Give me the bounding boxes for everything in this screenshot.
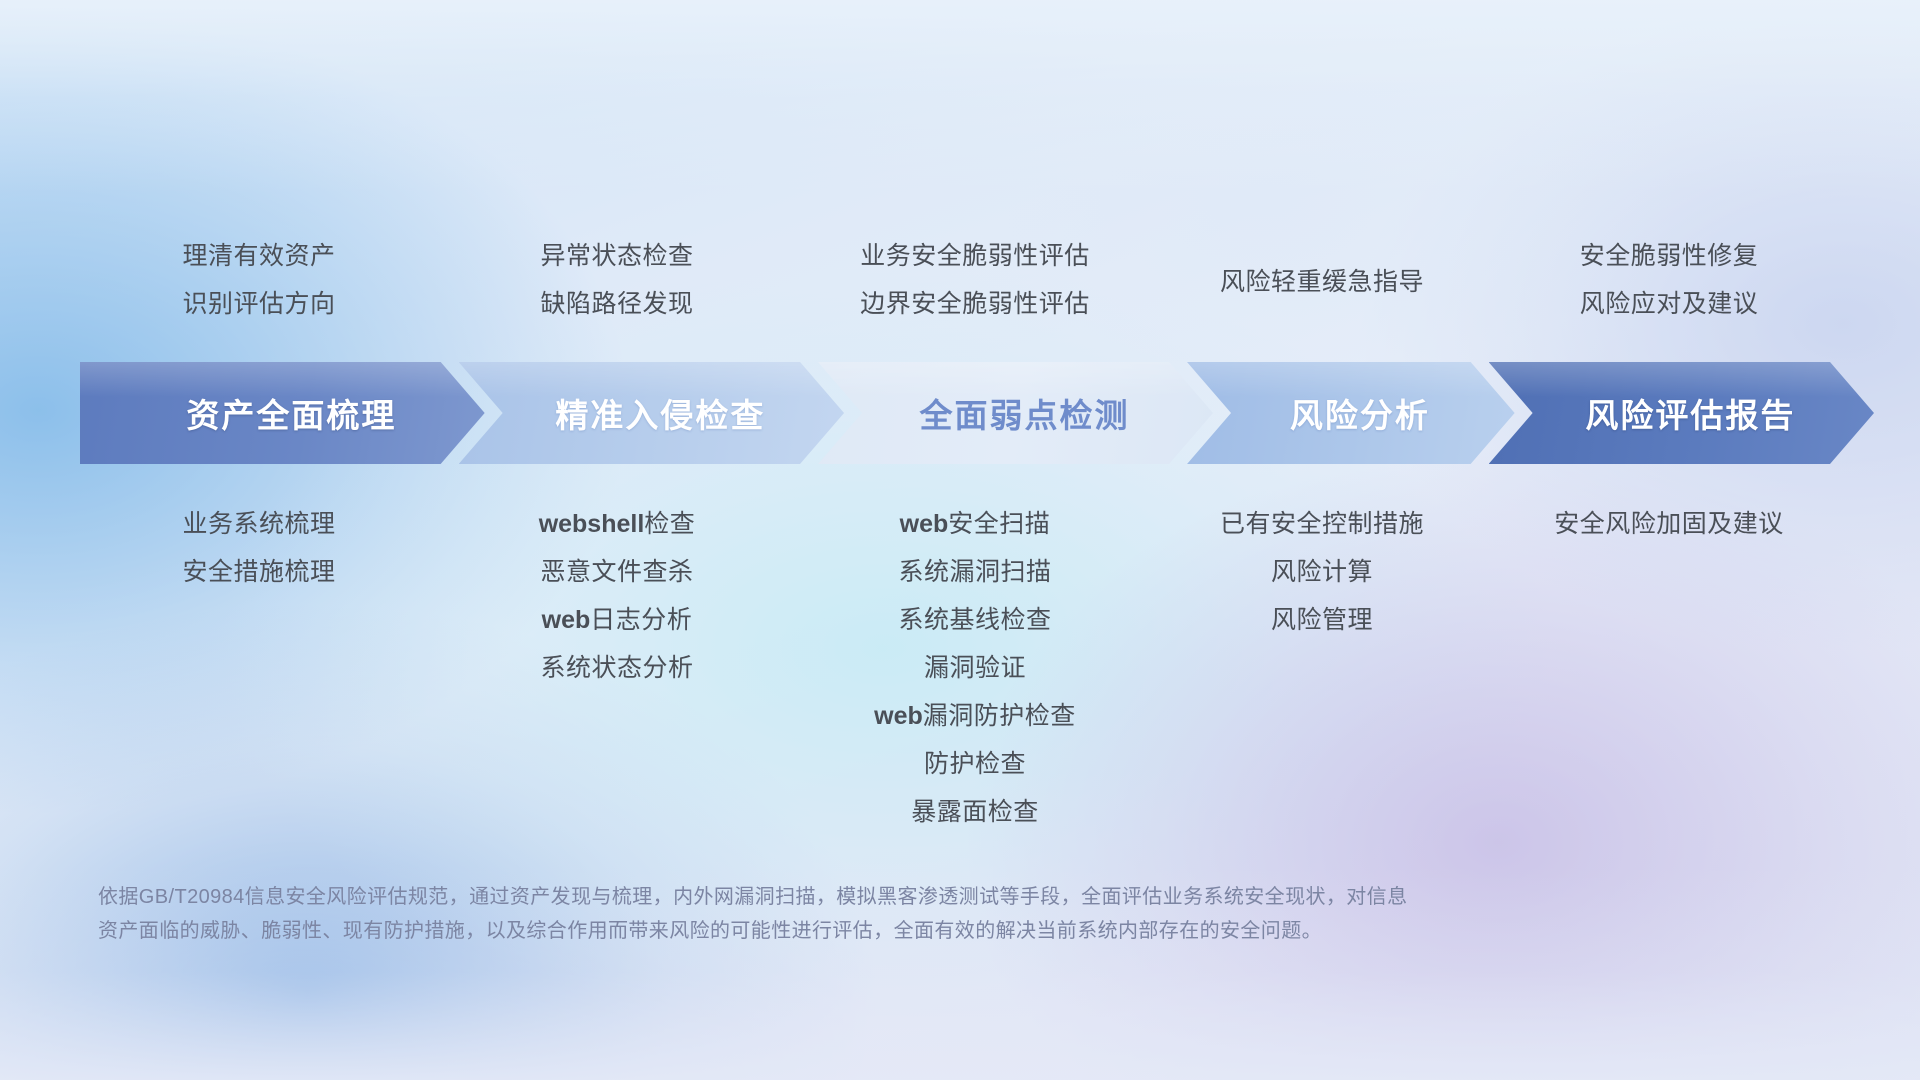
footer-line-2: 资产面临的威胁、脆弱性、现有防护措施，以及综合作用而带来风险的可能性进行评估，全… xyxy=(98,914,1618,948)
list-item-latin: web xyxy=(900,510,949,538)
list-item: 风险计算 xyxy=(1154,548,1490,596)
list-item: 安全风险加固及建议 xyxy=(1490,500,1848,548)
chevron-stage-intrusion-check[interactable]: 精准入侵检查 xyxy=(459,362,844,464)
process-chevron-banner: 资产全面梳理 精准入侵检查 全面弱点检测 风险分析 风险评估报告 xyxy=(80,362,1848,464)
list-item: 风险轻重缓急指导 xyxy=(1154,258,1490,306)
list-item-cjk: 防护检查 xyxy=(924,750,1026,778)
list-item: webshell检查 xyxy=(438,500,796,548)
footer-description: 依据GB/T20984信息安全风险评估规范，通过资产发现与梳理，内外网漏洞扫描，… xyxy=(98,880,1618,948)
bottom-list-risk-report: 安全风险加固及建议 xyxy=(1490,500,1848,836)
top-list-risk-analysis: 风险轻重缓急指导 xyxy=(1154,232,1490,328)
list-item-cjk: 暴露面检查 xyxy=(911,798,1039,826)
list-item: 业务安全脆弱性评估 xyxy=(796,232,1154,280)
list-item: 风险管理 xyxy=(1154,596,1490,644)
chevron-label: 全面弱点检测 xyxy=(902,389,1130,437)
bottom-list-asset-inventory: 业务系统梳理安全措施梳理 xyxy=(80,500,438,836)
bottom-list-intrusion-check: webshell检查恶意文件查杀web日志分析系统状态分析 xyxy=(438,500,796,836)
list-item-cjk: 安全扫描 xyxy=(948,510,1050,538)
list-item-cjk: 漏洞验证 xyxy=(924,654,1026,682)
chevron-stage-risk-report[interactable]: 风险评估报告 xyxy=(1489,362,1874,464)
chevron-label: 精准入侵检查 xyxy=(537,389,765,437)
top-list-asset-inventory: 理清有效资产 识别评估方向 xyxy=(80,232,438,328)
bottom-list-risk-analysis: 已有安全控制措施风险计算风险管理 xyxy=(1154,500,1490,836)
list-item: 风险应对及建议 xyxy=(1490,280,1848,328)
top-descriptor-row: 理清有效资产 识别评估方向 异常状态检查 缺陷路径发现 业务安全脆弱性评估 边界… xyxy=(80,232,1848,328)
list-item: 理清有效资产 xyxy=(80,232,438,280)
list-item-cjk: 检查 xyxy=(644,510,695,538)
list-item-cjk: 漏洞防护检查 xyxy=(923,702,1076,730)
list-item: 系统状态分析 xyxy=(438,644,796,692)
list-item: web漏洞防护检查 xyxy=(796,692,1154,740)
top-list-weakness-detection: 业务安全脆弱性评估 边界安全脆弱性评估 xyxy=(796,232,1154,328)
list-item: 系统基线检查 xyxy=(796,596,1154,644)
slide-canvas: 理清有效资产 识别评估方向 异常状态检查 缺陷路径发现 业务安全脆弱性评估 边界… xyxy=(0,0,1920,1080)
list-item-latin: webshell xyxy=(539,510,645,538)
list-item-cjk: 恶意文件查杀 xyxy=(540,558,693,586)
list-item: 暴露面检查 xyxy=(796,788,1154,836)
chevron-label: 资产全面梳理 xyxy=(168,389,396,437)
top-list-risk-report: 安全脆弱性修复 风险应对及建议 xyxy=(1490,232,1848,328)
list-item-cjk: 系统漏洞扫描 xyxy=(898,558,1051,586)
list-item: 异常状态检查 xyxy=(438,232,796,280)
list-item: 安全措施梳理 xyxy=(80,548,438,596)
list-item: 边界安全脆弱性评估 xyxy=(796,280,1154,328)
list-item: 漏洞验证 xyxy=(796,644,1154,692)
bottom-list-weakness-detection: web安全扫描系统漏洞扫描系统基线检查漏洞验证web漏洞防护检查防护检查暴露面检… xyxy=(796,500,1154,836)
list-item: 缺陷路径发现 xyxy=(438,280,796,328)
list-item: 安全脆弱性修复 xyxy=(1490,232,1848,280)
top-list-intrusion-check: 异常状态检查 缺陷路径发现 xyxy=(438,232,796,328)
chevron-stage-risk-analysis[interactable]: 风险分析 xyxy=(1187,362,1515,464)
list-item: 恶意文件查杀 xyxy=(438,548,796,596)
chevron-stage-weakness-detection[interactable]: 全面弱点检测 xyxy=(818,362,1213,464)
list-item-latin: web xyxy=(542,606,591,634)
chevron-stage-asset-inventory[interactable]: 资产全面梳理 xyxy=(80,362,485,464)
list-item: web日志分析 xyxy=(438,596,796,644)
list-item-cjk: 系统状态分析 xyxy=(540,654,693,682)
list-item: 防护检查 xyxy=(796,740,1154,788)
bottom-detail-row: 业务系统梳理安全措施梳理 webshell检查恶意文件查杀web日志分析系统状态… xyxy=(80,500,1848,836)
list-item-latin: web xyxy=(874,702,923,730)
chevron-label: 风险评估报告 xyxy=(1567,389,1795,437)
list-item-cjk: 系统基线检查 xyxy=(898,606,1051,634)
list-item: 识别评估方向 xyxy=(80,280,438,328)
list-item: 系统漏洞扫描 xyxy=(796,548,1154,596)
list-item: 业务系统梳理 xyxy=(80,500,438,548)
chevron-label: 风险分析 xyxy=(1272,389,1430,437)
list-item-cjk: 日志分析 xyxy=(590,606,692,634)
footer-line-1: 依据GB/T20984信息安全风险评估规范，通过资产发现与梳理，内外网漏洞扫描，… xyxy=(98,880,1618,914)
list-item: 已有安全控制措施 xyxy=(1154,500,1490,548)
list-item: web安全扫描 xyxy=(796,500,1154,548)
